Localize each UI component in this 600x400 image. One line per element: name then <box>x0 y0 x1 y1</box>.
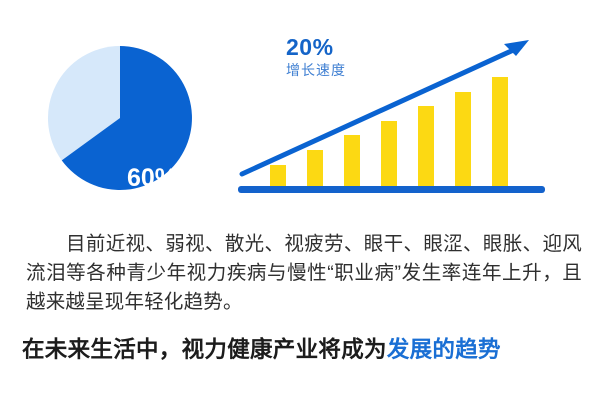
bar-item <box>344 135 360 187</box>
growth-annotation: 20% 增长速度 <box>286 36 346 77</box>
tagline: 在未来生活中，视力健康产业将成为发展的趋势 <box>22 336 588 363</box>
bar-item <box>270 165 286 187</box>
pie-center-label: 60% <box>127 166 177 191</box>
pie-chart: 60% <box>45 43 195 193</box>
body-paragraph: 目前近视、弱视、散光、视疲劳、眼干、眼涩、眼胀、迎风流泪等各种青少年视力疾病与慢… <box>26 230 582 317</box>
tagline-highlight: 发展的趋势 <box>387 337 501 362</box>
bar-item <box>492 77 508 187</box>
growth-rate-value: 20% <box>286 36 346 59</box>
chart-baseline <box>238 186 545 193</box>
bar-item <box>418 106 434 187</box>
bar-item <box>381 121 397 187</box>
growth-rate-caption: 增长速度 <box>286 63 346 77</box>
bar-item <box>307 150 323 187</box>
bar-series <box>270 77 508 187</box>
tagline-lead: 在未来生活中，视力健康产业将成为 <box>22 337 387 362</box>
bar-item <box>455 92 471 187</box>
text-block: 目前近视、弱视、散光、视疲劳、眼干、眼涩、眼胀、迎风流泪等各种青少年视力疾病与慢… <box>0 222 600 400</box>
bar-chart <box>232 28 552 203</box>
bar-chart-svg <box>232 28 552 203</box>
graphics-band: 60% <box>0 0 600 215</box>
infographic-root: 60% <box>0 0 600 400</box>
